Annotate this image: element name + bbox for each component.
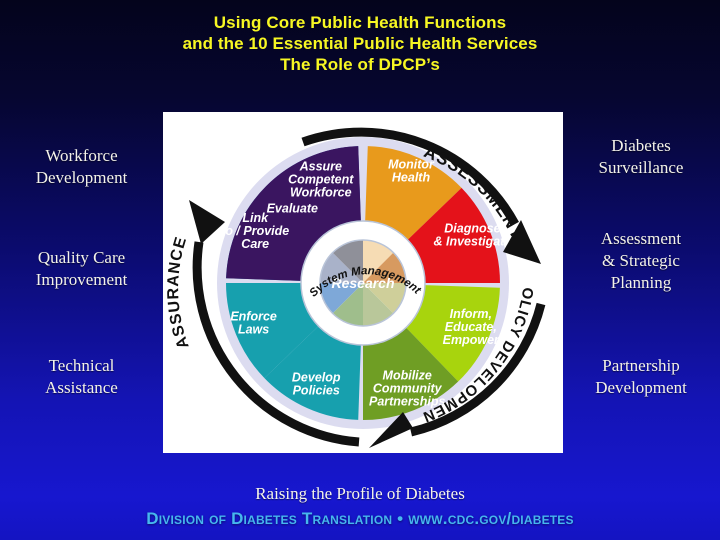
label-partnership-development: Partnership Development bbox=[566, 355, 716, 399]
label-line: Assistance bbox=[4, 377, 159, 399]
wheel-segment-label: Evaluate bbox=[267, 201, 318, 215]
label-line: Assessment bbox=[566, 228, 716, 250]
label-line: & Strategic bbox=[566, 250, 716, 272]
label-line: Technical bbox=[4, 355, 159, 377]
wheel-segment-label: Inform,Educate,Empower bbox=[443, 307, 500, 347]
label-line: Diabetes bbox=[566, 135, 716, 157]
label-line: Planning bbox=[566, 272, 716, 294]
label-line: Quality Care bbox=[4, 247, 159, 269]
title-line-3: The Role of DPCP’s bbox=[0, 54, 720, 75]
label-diabetes-surveillance: Diabetes Surveillance bbox=[566, 135, 716, 179]
wheel-segment-label: DevelopPolicies bbox=[292, 371, 341, 398]
label-line: Partnership bbox=[566, 355, 716, 377]
footer-credit: Division of Diabetes Translation • www.c… bbox=[0, 509, 720, 529]
public-health-wheel-chart: MonitorHealthDiagnose& InvestigateInform… bbox=[163, 112, 563, 453]
label-line: Improvement bbox=[4, 269, 159, 291]
page-title: Using Core Public Health Functions and t… bbox=[0, 12, 720, 75]
label-line: Workforce bbox=[4, 145, 159, 167]
public-health-wheel-panel: MonitorHealthDiagnose& InvestigateInform… bbox=[163, 112, 563, 453]
label-workforce-development: Workforce Development bbox=[4, 145, 159, 189]
label-line: Surveillance bbox=[566, 157, 716, 179]
label-assessment-strategic-planning: Assessment & Strategic Planning bbox=[566, 228, 716, 294]
arrow-assurance-head bbox=[189, 200, 225, 244]
label-line: Development bbox=[4, 167, 159, 189]
wheel-segment-label: Diagnose& Investigate bbox=[434, 221, 512, 248]
arc-label-assurance: ASSURANCE bbox=[165, 235, 193, 351]
label-technical-assistance: Technical Assistance bbox=[4, 355, 159, 399]
label-line: Development bbox=[566, 377, 716, 399]
title-line-1: Using Core Public Health Functions bbox=[0, 12, 720, 33]
tagline: Raising the Profile of Diabetes bbox=[0, 484, 720, 504]
slide-root: Using Core Public Health Functions and t… bbox=[0, 0, 720, 540]
label-quality-care-improvement: Quality Care Improvement bbox=[4, 247, 159, 291]
title-line-2: and the 10 Essential Public Health Servi… bbox=[0, 33, 720, 54]
